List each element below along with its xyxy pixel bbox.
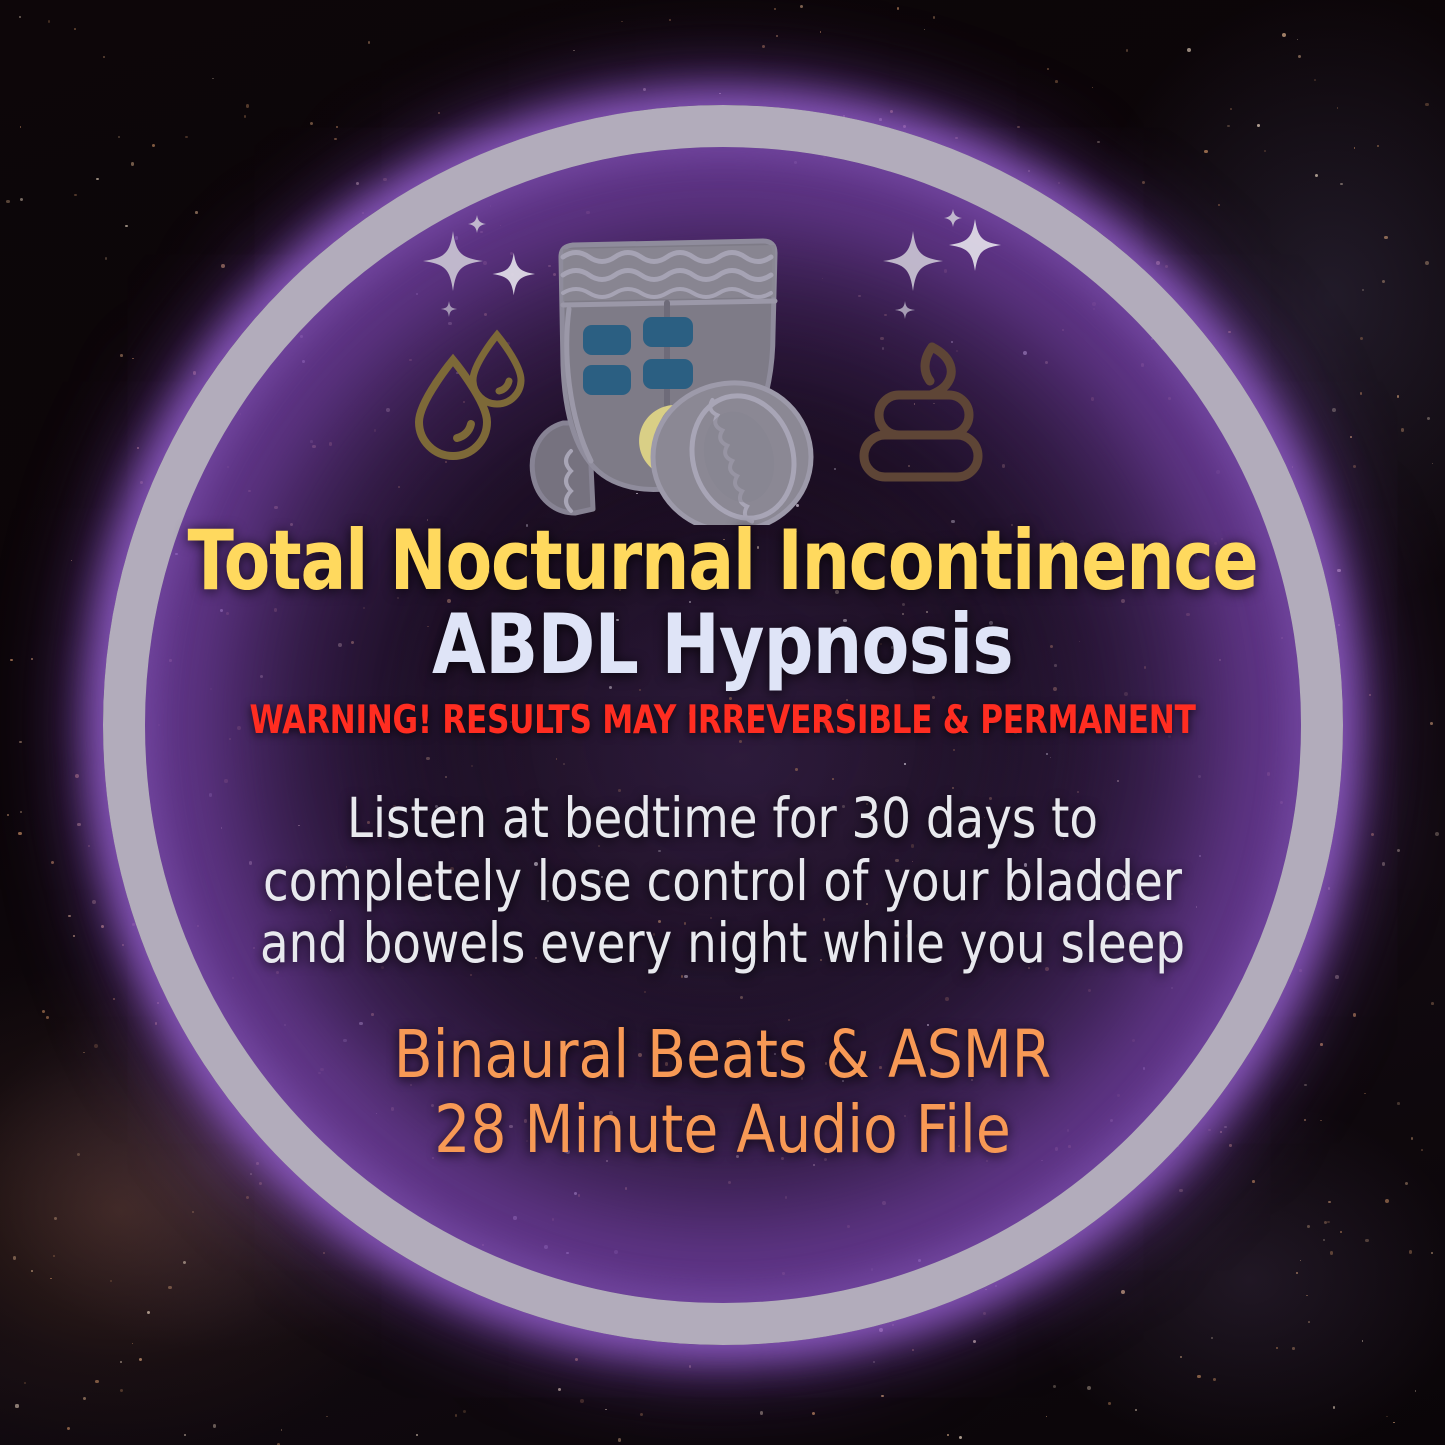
footer-line-1: Binaural Beats & ASMR [101, 1017, 1344, 1092]
body-copy: Listen at bedtime for 30 days to complet… [108, 787, 1336, 975]
headline: Total Nocturnal Incontinence [130, 520, 1315, 601]
text-content: Total Nocturnal Incontinence ABDL Hypnos… [0, 520, 1445, 1168]
poster-canvas: Total Nocturnal Incontinence ABDL Hypnos… [0, 0, 1445, 1445]
footer-line-2: 28 Minute Audio File [101, 1092, 1344, 1167]
body-line-2: completely lose control of your bladder [108, 850, 1336, 913]
warning-text: WARNING! RESULTS MAY IRREVERSIBLE & PERM… [145, 698, 1301, 743]
body-line-3: and bowels every night while you sleep [108, 912, 1336, 975]
subheadline: ABDL Hypnosis [116, 603, 1330, 688]
footer-copy: Binaural Beats & ASMR 28 Minute Audio Fi… [101, 1017, 1344, 1167]
body-line-1: Listen at bedtime for 30 days to [108, 787, 1336, 850]
